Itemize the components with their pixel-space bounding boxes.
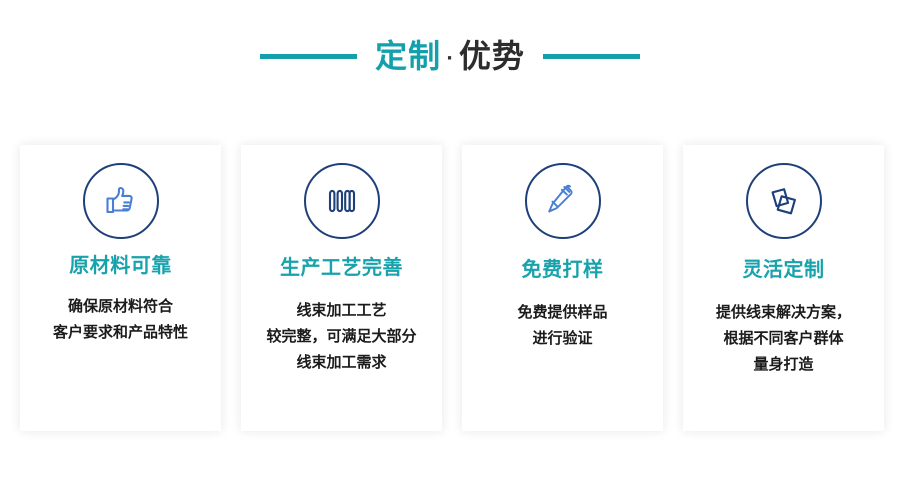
feature-card-title: 灵活定制 bbox=[743, 259, 825, 279]
feature-card-body: 线束加工工艺 较完整，可满足大部分 线束加工需求 bbox=[258, 297, 424, 375]
feature-card-body-line: 客户要求和产品特性 bbox=[53, 319, 188, 345]
section-heading: 定制 · 优势 bbox=[0, 28, 900, 84]
feature-card[interactable]: 原材料可靠 确保原材料符合 客户要求和产品特性 bbox=[20, 145, 221, 431]
customization-advantage-section: 定制 · 优势 原材料可靠 确保原材料符合 客户要求和产品特性 bbox=[0, 0, 900, 499]
pencil-icon bbox=[525, 163, 601, 239]
feature-card[interactable]: 生产工艺完善 线束加工工艺 较完整，可满足大部分 线束加工需求 bbox=[241, 145, 442, 431]
page-title-separator: · bbox=[441, 50, 459, 68]
feature-card-body: 免费提供样品 进行验证 bbox=[509, 299, 615, 351]
feature-card-body: 提供线束解决方案， 根据不同客户群体 量身打造 bbox=[708, 299, 859, 377]
feature-card-body-line: 根据不同客户群体 bbox=[716, 325, 851, 351]
heading-rule-left bbox=[260, 54, 357, 59]
feature-card[interactable]: 灵活定制 提供线束解决方案， 根据不同客户群体 量身打造 bbox=[683, 145, 884, 431]
feature-card-body: 确保原材料符合 客户要求和产品特性 bbox=[45, 293, 196, 345]
feature-card-body-line: 较完整，可满足大部分 bbox=[266, 323, 416, 349]
feature-card-list: 原材料可靠 确保原材料符合 客户要求和产品特性 生产工艺完善 bbox=[20, 145, 884, 431]
feature-card-body-line: 确保原材料符合 bbox=[53, 293, 188, 319]
feature-card-body-line: 提供线束解决方案， bbox=[716, 299, 851, 325]
heading-rule-right bbox=[543, 54, 640, 59]
feature-card-body-line: 线束加工工艺 bbox=[266, 297, 416, 323]
feature-card-title: 免费打样 bbox=[522, 259, 604, 279]
stacked-cards-icon bbox=[746, 163, 822, 239]
feature-card-body-line: 进行验证 bbox=[517, 325, 607, 351]
feature-card-body-line: 线束加工需求 bbox=[266, 349, 416, 375]
thumbs-up-icon bbox=[83, 163, 159, 239]
page-title-accent: 定制 bbox=[375, 40, 441, 72]
feature-card[interactable]: 免费打样 免费提供样品 进行验证 bbox=[462, 145, 663, 431]
page-title-main: 优势 bbox=[459, 40, 525, 72]
feature-card-body-line: 量身打造 bbox=[716, 351, 851, 377]
feature-card-body-line: 免费提供样品 bbox=[517, 299, 607, 325]
feature-card-title: 生产工艺完善 bbox=[280, 257, 403, 277]
folded-map-icon bbox=[304, 163, 380, 239]
page-title: 定制 · 优势 bbox=[375, 40, 525, 72]
feature-card-title: 原材料可靠 bbox=[69, 255, 172, 275]
